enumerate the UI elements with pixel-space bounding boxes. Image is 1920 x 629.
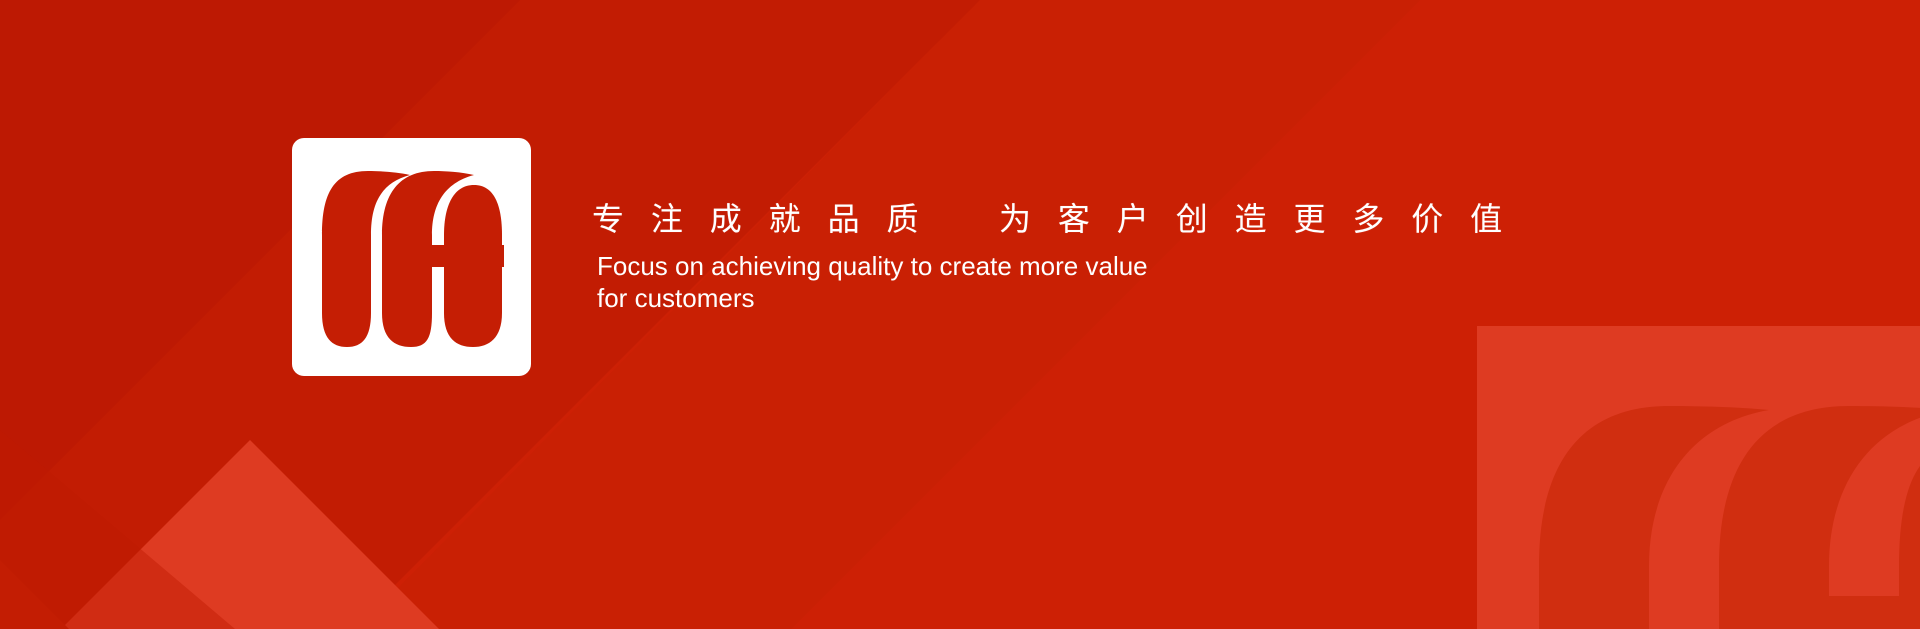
wedge-lower-left-dark [0,560,175,629]
slogan-english-line-1: Focus on achieving quality to create mor… [597,251,1148,281]
watermark-logo [1477,326,1920,629]
diagonal-band-right [0,0,1420,629]
background-decoration [0,0,1920,629]
company-logo-mark [314,163,510,353]
watermark-logo-mark [1519,366,1920,629]
brand-banner: 专 注 成 就 品 质 为 客 户 创 造 更 多 价 值 Focus on a… [0,0,1920,629]
diamond-lower-left [0,440,640,629]
background-base [0,0,1920,629]
slogan-block: 专 注 成 就 品 质 为 客 户 创 造 更 多 价 值 Focus on a… [592,196,1452,314]
company-logo-card [292,138,531,376]
slogan-english-line-2: for customers [597,283,755,313]
background-shapes-svg [0,0,1920,629]
corner-shade-lower-left [0,430,235,629]
slogan-chinese: 专 注 成 就 品 质 为 客 户 创 造 更 多 价 值 [592,196,1452,242]
watermark-plate [1477,326,1920,629]
slogan-english: Focus on achieving quality to create mor… [597,250,1237,314]
